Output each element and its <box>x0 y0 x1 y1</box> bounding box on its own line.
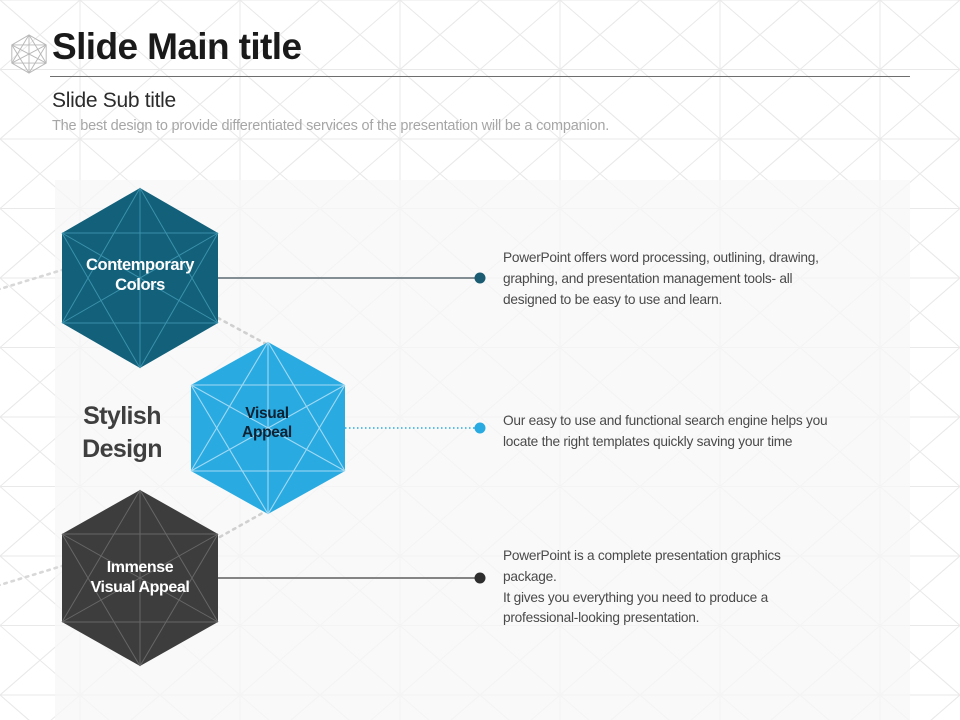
description-line: PowerPoint offers word processing, outli… <box>503 248 903 269</box>
hexagon-contemporary-colors[interactable] <box>62 188 218 368</box>
stylish-design-line2: Design <box>52 433 192 466</box>
slide-header: Slide Main title Slide Sub title The bes… <box>0 0 960 180</box>
sub-description: The best design to provide differentiate… <box>52 118 609 134</box>
page-title: Slide Main title <box>52 28 301 65</box>
title-divider <box>50 76 910 77</box>
description-visual-appeal: Our easy to use and functional search en… <box>503 411 903 453</box>
hexagon-immense-visual-appeal[interactable] <box>62 490 218 666</box>
connector-line-1 <box>218 273 486 284</box>
connector-dot-1 <box>475 273 486 284</box>
description-line: locate the right templates quickly savin… <box>503 432 903 453</box>
description-line: It gives you everything you need to prod… <box>503 588 903 609</box>
stylish-design-line1: Stylish <box>52 400 192 433</box>
connector-line-3 <box>218 573 486 584</box>
description-contemporary-colors: PowerPoint offers word processing, outli… <box>503 248 903 310</box>
connector-dot-2 <box>475 423 486 434</box>
connector-line-2 <box>345 423 486 434</box>
description-line: package. <box>503 567 903 588</box>
description-line: graphing, and presentation management to… <box>503 269 903 290</box>
description-line: professional-looking presentation. <box>503 608 903 629</box>
stylish-design-label: Stylish Design <box>52 400 192 466</box>
hexagon-visual-appeal[interactable] <box>191 342 345 514</box>
description-line: PowerPoint is a complete presentation gr… <box>503 546 903 567</box>
slide-canvas: Slide Main title Slide Sub title The bes… <box>0 0 960 720</box>
hexagon-wireframe-icon <box>8 32 50 76</box>
connector-dot-3 <box>475 573 486 584</box>
description-immense-visual-appeal: PowerPoint is a complete presentation gr… <box>503 546 903 629</box>
description-line: designed to be easy to use and learn. <box>503 290 903 311</box>
description-line: Our easy to use and functional search en… <box>503 411 903 432</box>
sub-title: Slide Sub title <box>52 89 176 113</box>
